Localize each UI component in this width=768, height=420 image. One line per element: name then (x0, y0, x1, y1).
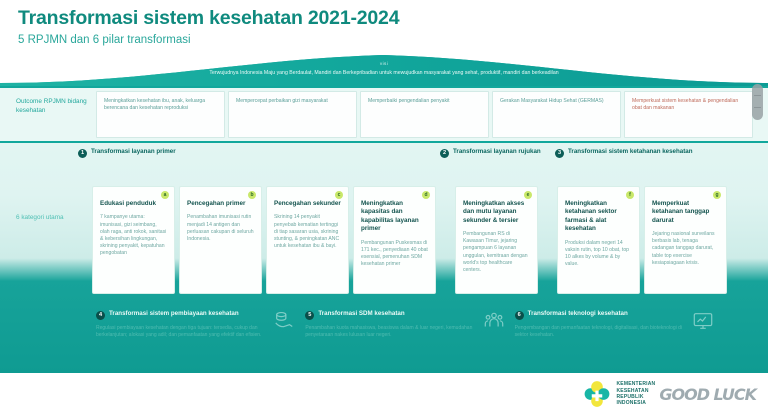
pillar-body: Pengembangan dan pemanfaatan teknologi, … (515, 325, 690, 339)
outcome-card-row: Meningkatkan kesehatan ibu, anak, keluar… (96, 91, 756, 138)
side-label-outcome: Outcome RPJMN bidang kesehatan (16, 98, 88, 115)
card-body: Pembangunan Puskesmas di 171 kec., penye… (361, 240, 428, 268)
pillar-title: Transformasi sistem ketahanan kesehatan (568, 148, 693, 156)
pillar-block-4[interactable]: 4 Transformasi sistem pembiayaan kesehat… (96, 310, 297, 339)
kemenkes-logo-icon (582, 379, 612, 409)
card-title: Edukasi penduduk (100, 200, 167, 208)
ministry-name: KEMENTERIAN KESEHATAN REPUBLIK INDONESIA (616, 381, 655, 406)
scrollbar-handle[interactable] (752, 84, 763, 120)
card-title: Meningkatkan ketahanan sektor farmasi & … (565, 200, 632, 234)
pillar-number-badge: 1 (78, 149, 87, 158)
card-badge: g (713, 191, 721, 199)
detail-card-row: a Edukasi penduduk 7 kampanye utama: imu… (92, 186, 727, 294)
vision-label: visi (0, 61, 768, 66)
detail-card-e[interactable]: e Meningkatkan akses dan mutu layanan se… (455, 186, 538, 294)
outcome-card-text: Mempercepat perbaikan gizi masyarakat (236, 98, 350, 105)
detail-card-f[interactable]: f Meningkatkan ketahanan sektor farmasi … (557, 186, 640, 294)
card-title: Pencegahan primer (187, 200, 254, 208)
outcome-card-text: Memperkuat sistem kesehatan & pengendali… (632, 98, 746, 112)
card-title: Memperkuat ketahanan tanggap darurat (652, 200, 719, 225)
detail-card-g[interactable]: g Memperkuat ketahanan tanggap darurat J… (644, 186, 727, 294)
outcome-card[interactable]: Meningkatkan kesehatan ibu, anak, keluar… (96, 91, 225, 138)
pillar-body: Penambahan kuota mahasiswa, beasiswa dal… (305, 325, 480, 339)
card-body: Penambahan imunisasi rutin menjadi 14 an… (187, 214, 254, 242)
footer-logo-group: KEMENTERIAN KESEHATAN REPUBLIK INDONESIA… (582, 379, 756, 409)
card-body: 7 kampanye utama: imunisasi, gizi seimba… (100, 214, 167, 257)
page-header: Transformasi sistem kesehatan 2021-2024 … (18, 6, 399, 48)
card-body: Skrining 14 penyakit penyebab kematian t… (274, 214, 341, 249)
detail-card-d[interactable]: d Meningkatkan kapasitas dan kapabilitas… (353, 186, 436, 294)
detail-card-a[interactable]: a Edukasi penduduk 7 kampanye utama: imu… (92, 186, 175, 294)
ministry-line-1: KEMENTERIAN (616, 381, 655, 387)
vision-roof: visi Terwujudnya Indonesia Maju yang Ber… (0, 47, 768, 91)
scrollbar-grip-line (754, 95, 761, 96)
detail-card-b[interactable]: b Pencegahan primer Penambahan imunisasi… (179, 186, 262, 294)
card-badge: c (335, 191, 343, 199)
outcome-card[interactable]: Mempercepat perbaikan gizi masyarakat (228, 91, 357, 138)
monitor-icon (692, 310, 714, 332)
card-group-divider (440, 186, 451, 294)
side-label-kategori: 6 kategori utama (16, 214, 88, 223)
card-badge: d (422, 191, 430, 199)
ministry-line-4: INDONESIA (616, 400, 655, 406)
card-badge: f (626, 191, 634, 199)
people-group-icon (483, 310, 505, 332)
scrollbar-grip-line (754, 107, 761, 108)
outcome-card-highlighted[interactable]: Memperkuat sistem kesehatan & pengendali… (624, 91, 753, 138)
bottom-pillar-row: 4 Transformasi sistem pembiayaan kesehat… (96, 310, 716, 339)
outcome-card[interactable]: Memperbaiki pengendalian penyakit (360, 91, 489, 138)
pillar-title: Transformasi sistem pembiayaan kesehatan (109, 310, 239, 318)
outcome-card-text: Memperbaiki pengendalian penyakit (368, 98, 482, 105)
outcome-card-text: Meningkatkan kesehatan ibu, anak, keluar… (104, 98, 218, 112)
card-body: Produksi dalam negeri 14 vaksin rutin, t… (565, 240, 632, 268)
page-title: Transformasi sistem kesehatan 2021-2024 (18, 6, 399, 30)
pillar-header-2[interactable]: 2 Transformasi layanan rujukan (440, 148, 545, 158)
detail-card-c[interactable]: c Pencegahan sekunder Skrining 14 penyak… (266, 186, 349, 294)
pillar-title: Transformasi layanan rujukan (453, 148, 541, 156)
pillar-title: Transformasi layanan primer (91, 148, 176, 156)
pillar-number-badge: 6 (515, 311, 524, 320)
pillar-number-badge: 4 (96, 311, 105, 320)
card-title: Pencegahan sekunder (274, 200, 341, 208)
pillar-title: Transformasi SDM kesehatan (318, 310, 404, 318)
pillar-header-3[interactable]: 3 Transformasi sistem ketahanan kesehata… (555, 148, 715, 158)
coins-hand-icon (273, 310, 295, 332)
card-body: Jejaring nasional surveilans berbasis la… (652, 231, 719, 266)
page-subtitle: 5 RPJMN dan 6 pilar transformasi (18, 32, 399, 48)
outcome-card-text: Gerakan Masyarakat Hidup Sehat (GERMAS) (500, 98, 614, 105)
card-group-divider (542, 186, 553, 294)
pillar-header-1[interactable]: 1 Transformasi layanan primer (78, 148, 278, 158)
pillar-block-6[interactable]: 6 Transformasi teknologi kesehatan Penge… (515, 310, 716, 339)
pillar-number-badge: 2 (440, 149, 449, 158)
vision-text: Terwujudnya Indonesia Maju yang Berdaula… (0, 70, 768, 77)
card-title: Meningkatkan akses dan mutu layanan seku… (463, 200, 530, 225)
pillar-body: Regulasi pembiayaan kesehatan dengan tig… (96, 325, 271, 339)
outcome-card[interactable]: Gerakan Masyarakat Hidup Sehat (GERMAS) (492, 91, 621, 138)
watermark-text: GOOD LUCK (659, 388, 756, 401)
card-body: Pembangunan RS di Kawasan Timur, jejarin… (463, 231, 530, 274)
pillar-block-5[interactable]: 5 Transformasi SDM kesehatan Penambahan … (305, 310, 506, 339)
card-title: Meningkatkan kapasitas dan kapabilitas l… (361, 200, 428, 234)
pillar-title: Transformasi teknologi kesehatan (528, 310, 628, 318)
slide-canvas: Transformasi sistem kesehatan 2021-2024 … (0, 0, 768, 420)
card-badge: b (248, 191, 256, 199)
card-badge: e (524, 191, 532, 199)
pillar-number-badge: 5 (305, 311, 314, 320)
pillar-number-badge: 3 (555, 149, 564, 158)
card-badge: a (161, 191, 169, 199)
